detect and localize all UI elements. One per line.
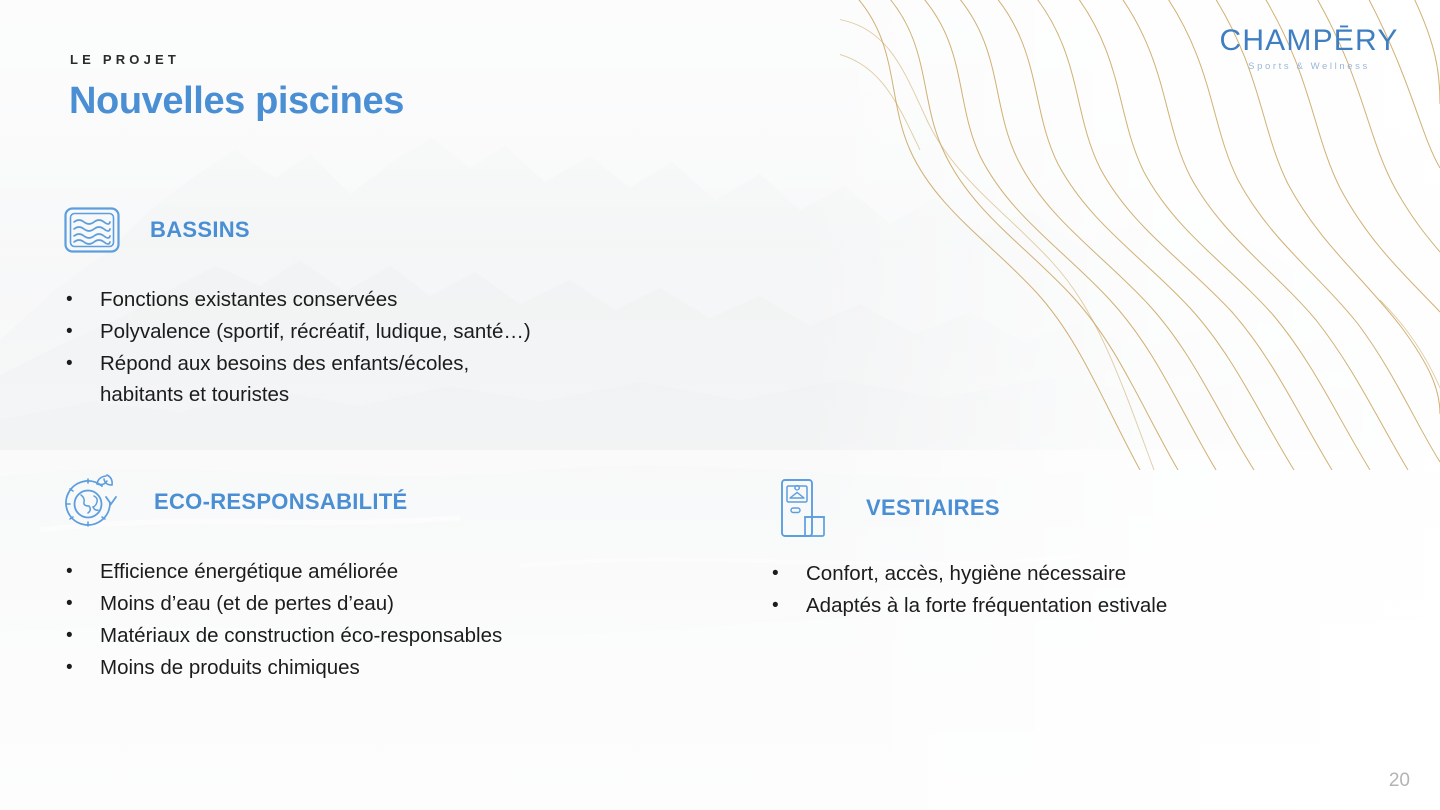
section-vestiaires-header: VESTIAIRES xyxy=(772,480,1167,536)
section-bassins-title: BASSINS xyxy=(150,217,250,242)
bullet-marker: • xyxy=(66,620,100,651)
bullet-marker: • xyxy=(66,652,100,683)
section-bassins-header: BASSINS xyxy=(60,202,531,258)
bullet-marker: • xyxy=(66,284,100,315)
bullet-marker: • xyxy=(772,558,806,589)
section-bassins: BASSINS • Fonctions existantes conservée… xyxy=(60,202,531,411)
bullet-marker: • xyxy=(772,590,806,621)
section-vestiaires-bullets: • Confort, accès, hygiène nécessaire • A… xyxy=(772,558,1167,621)
list-item: • Moins de produits chimiques xyxy=(66,652,502,683)
logo-tagline: Sports & Wellness xyxy=(1214,61,1404,72)
slide: CHAMPĒRY Sports & Wellness LE PROJET Nou… xyxy=(0,0,1440,810)
list-item: • Matériaux de construction éco-responsa… xyxy=(66,620,502,651)
section-vestiaires: VESTIAIRES • Confort, accès, hygiène néc… xyxy=(772,480,1167,622)
background-right-fade xyxy=(800,0,1440,810)
bullet-marker: • xyxy=(66,348,100,410)
bullet-marker: • xyxy=(66,316,100,347)
bullet-text: Matériaux de construction éco-responsabl… xyxy=(100,620,502,651)
list-item: • Répond aux besoins des enfants/écoles,… xyxy=(66,348,531,410)
list-item: • Moins d’eau (et de pertes d’eau) xyxy=(66,588,502,619)
bullet-text: Répond aux besoins des enfants/écoles, h… xyxy=(100,348,469,410)
champery-logo: CHAMPĒRY Sports & Wellness xyxy=(1214,26,1404,72)
list-item: • Fonctions existantes conservées xyxy=(66,284,531,315)
section-eco-bullets: • Efficience énergétique améliorée • Moi… xyxy=(66,556,502,683)
bullet-text: Polyvalence (sportif, récréatif, ludique… xyxy=(100,316,531,347)
section-vestiaires-title: VESTIAIRES xyxy=(866,495,1000,520)
list-item: • Confort, accès, hygiène nécessaire xyxy=(772,558,1167,589)
pool-icon xyxy=(60,202,124,258)
locker-icon xyxy=(772,480,836,536)
bullet-marker: • xyxy=(66,588,100,619)
list-item: • Adaptés à la forte fréquentation estiv… xyxy=(772,590,1167,621)
logo-wordmark: CHAMPĒRY xyxy=(1214,26,1404,56)
slide-number: 20 xyxy=(1389,770,1410,792)
section-bassins-bullets: • Fonctions existantes conservées • Poly… xyxy=(66,284,531,410)
bullet-text: Fonctions existantes conservées xyxy=(100,284,397,315)
section-eco-responsabilite: ECO-RESPONSABILITÉ • Efficience énergéti… xyxy=(60,474,502,684)
slide-eyebrow: LE PROJET xyxy=(70,52,180,67)
bullet-text: Moins d’eau (et de pertes d’eau) xyxy=(100,588,394,619)
bullet-text: Adaptés à la forte fréquentation estival… xyxy=(806,590,1167,621)
section-eco-header: ECO-RESPONSABILITÉ xyxy=(60,474,502,530)
list-item: • Polyvalence (sportif, récréatif, ludiq… xyxy=(66,316,531,347)
list-item: • Efficience énergétique améliorée xyxy=(66,556,502,587)
bullet-text: Confort, accès, hygiène nécessaire xyxy=(806,558,1126,589)
bullet-text: Moins de produits chimiques xyxy=(100,652,360,683)
bullet-marker: • xyxy=(66,556,100,587)
eco-globe-icon xyxy=(60,474,124,530)
section-eco-title: ECO-RESPONSABILITÉ xyxy=(154,489,408,514)
bullet-text: Efficience énergétique améliorée xyxy=(100,556,398,587)
page-title: Nouvelles piscines xyxy=(69,80,404,123)
